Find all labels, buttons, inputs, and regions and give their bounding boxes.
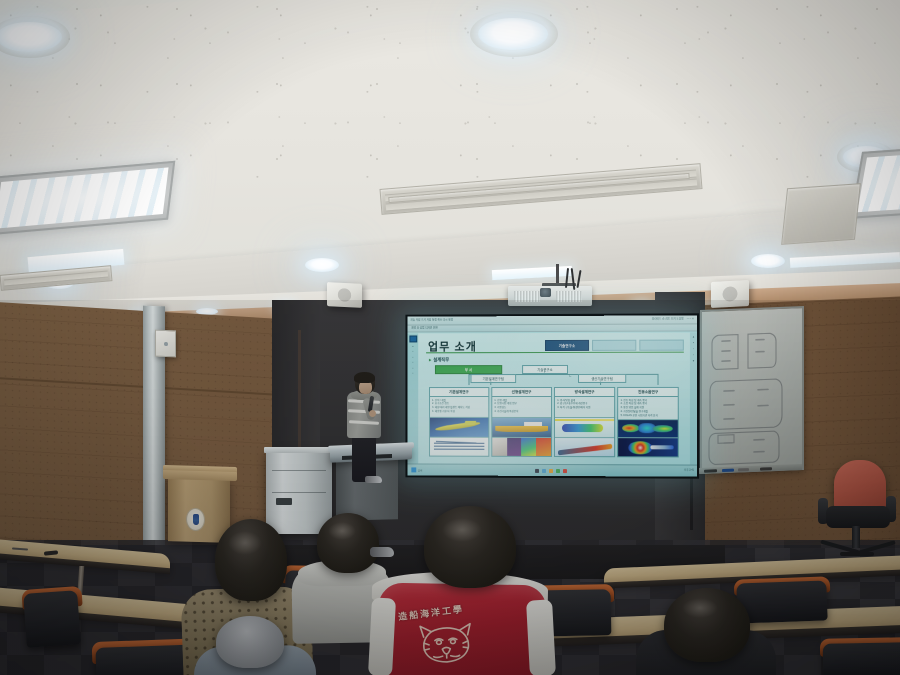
status-right-label: 슬라이드 쇼 검토 보기 도움말	[652, 318, 684, 321]
slide-section-heading: ▸설계직무	[429, 357, 449, 363]
card-structural-design: 방식설계연구 1. 방식/방청 설계 2. 강구조/내구/부재 개선연구 3. …	[554, 387, 615, 457]
org-right-branch-box: 생산기술연구팀	[578, 374, 626, 383]
jacket-sleeve	[526, 599, 556, 675]
slide-thumbnail-selected[interactable]	[409, 335, 417, 342]
wall-speaker	[711, 280, 749, 308]
card-header: 방식설계연구	[555, 388, 614, 397]
card-header: 선형설계연구	[492, 388, 550, 397]
slide-canvas: 업무 소개 기술연구소 ▸설계직무 부 서 기술연구소 기본설계연구	[418, 332, 690, 465]
jacket-sleeve	[368, 597, 396, 675]
av-rack-panel-slot[interactable]	[276, 498, 292, 505]
marker[interactable]	[704, 469, 717, 472]
thumbnail-icon: ▫	[412, 367, 413, 370]
taskbar-clock: 오후 2:41	[684, 470, 694, 473]
card-image-hull-girder-stress	[555, 438, 614, 457]
office-chair-leg	[840, 552, 874, 556]
projection-screen: 자동 저장 끄기 저장 실행 취소 다시 실행 슬라이드 쇼 검토 보기 도움말…	[407, 315, 697, 476]
org-root-box: 부 서	[435, 365, 502, 374]
scrollbar-down-icon[interactable]: ▾	[693, 360, 695, 363]
thumbnail-icon: ▫	[412, 372, 413, 375]
slide-tab-active[interactable]: 기술연구소	[545, 340, 589, 351]
thumbnail-icon: ▫	[412, 350, 413, 353]
wall-control-box[interactable]	[155, 330, 176, 358]
ceiling-access-panel	[781, 183, 861, 245]
card-item-list: 1. 선적 / 개발 2. 요구조건 검토 3. 해상/해저 해양/플랜트 배치…	[430, 397, 488, 418]
recessed-downlight	[305, 258, 339, 272]
card-hullform-design: 선형설계연구 1. 선형 개발 2. 모형시험 계획 업무 3. 저항성능 4.…	[491, 387, 551, 457]
eraser[interactable]	[738, 468, 749, 471]
ribbon-tab-labels[interactable]: 파일 홈 삽입 디자인 전환	[411, 327, 437, 330]
card-item: 4. 추진기설계 특성분석	[494, 410, 548, 414]
audience-chair[interactable]	[23, 590, 81, 648]
pane-icon[interactable]: ▪	[693, 342, 694, 345]
card-header: 진동소음연구	[619, 388, 678, 397]
audience-member-4-head	[216, 616, 284, 668]
av-equipment-cabinet	[266, 450, 332, 534]
hair-highlight	[328, 522, 356, 540]
slide-tab[interactable]	[592, 340, 636, 351]
whiteboard	[700, 306, 804, 474]
card-item: 5. KOLAS 공인 시험기관 자격 유지	[621, 414, 676, 418]
scrollbar-up-icon[interactable]: ▴	[693, 335, 695, 338]
quick-access-label: 자동 저장 끄기 저장 실행 취소 다시 실행	[410, 319, 453, 322]
pane-icon[interactable]: ▫	[693, 348, 694, 351]
office-chair-gas-post	[852, 526, 860, 548]
card-image-fem-deformation-plot	[555, 418, 614, 438]
card-vibration-noise: 진동소음연구 1. 진동 특성 및 계측 평가 2. 소음 특성 및 계측 평가…	[618, 387, 679, 458]
card-header: 기본설계연구	[430, 388, 488, 397]
hair-highlight	[682, 598, 718, 618]
marker[interactable]	[722, 468, 734, 471]
org-chart: 부 서 기술연구소 기본설계연구팀 생산기술연구팀 ㄴ	[429, 365, 679, 385]
title-underline	[426, 352, 684, 354]
ppt-right-pane-rail[interactable]: ▴ ▪ ▫ ▫ ▾	[690, 332, 697, 465]
stray-shoe	[370, 547, 394, 557]
taskbar-left-group[interactable]: 검색	[411, 468, 422, 473]
org-center-box: 기술연구소	[522, 365, 568, 374]
office-chair-seat[interactable]	[826, 506, 890, 528]
ppt-ribbon-tabs[interactable]: 파일 홈 삽입 디자인 전환	[407, 324, 697, 332]
windows-start-icon[interactable]	[411, 468, 415, 472]
window-controls[interactable]: — ▫ ✕	[687, 318, 694, 321]
presenter-hand	[369, 410, 376, 417]
card-image-cfd-wake-montage	[492, 437, 550, 456]
thumbnail-icon: ▫	[412, 361, 413, 364]
section-heading-label: 설계직무	[433, 357, 449, 362]
org-left-branch-box: 기본설계연구팀	[470, 374, 516, 383]
org-connector-label: ㄴ	[569, 374, 572, 378]
card-item-list: 1. 방식/방청 설계 2. 강구조/내구/부재 개선연구 3. 최적 구조설계…	[555, 397, 614, 418]
thumbnail-icon: ▫	[412, 356, 413, 359]
windows-taskbar[interactable]: 검색 오후 2:41	[407, 463, 697, 476]
card-item: 4. 해양생 기본/사 작성	[432, 410, 486, 414]
slide-section-tabs[interactable]: 기술연구소	[545, 340, 684, 351]
folder-icon[interactable]	[542, 468, 546, 472]
card-item: 3. 최적 구조설계/경량/해석 지원	[557, 406, 612, 410]
thumbnail-icon: ▪	[412, 345, 413, 348]
design-discipline-cards: 기본설계연구 1. 선적 / 개발 2. 요구조건 검토 3. 해상/해저 해양…	[429, 387, 679, 458]
browser-icon[interactable]	[549, 468, 553, 472]
projector-vent	[556, 291, 582, 302]
university-crest	[186, 508, 205, 532]
card-image-yellow-vessel-photo	[492, 418, 550, 438]
music-icon[interactable]	[535, 468, 539, 472]
lecture-hall-photo: 자동 저장 끄기 저장 실행 취소 다시 실행 슬라이드 쇼 검토 보기 도움말…	[0, 0, 900, 675]
audience-chair[interactable]	[823, 642, 900, 675]
taskbar-search-label[interactable]: 검색	[418, 468, 422, 472]
downlight-rim	[470, 11, 558, 57]
wall-speaker	[327, 282, 362, 308]
recessed-downlight	[751, 254, 785, 268]
av-cabinet-top	[264, 447, 334, 453]
presenter-shoe	[365, 476, 382, 483]
hair-highlight	[228, 531, 262, 555]
media-icon[interactable]	[563, 469, 567, 473]
presenter-hair	[354, 372, 375, 383]
crest-shield-icon	[193, 514, 199, 525]
card-basic-design: 기본설계연구 1. 선적 / 개발 2. 요구조건 검토 3. 해상/해저 해양…	[429, 387, 489, 457]
bullet-caret-icon: ▸	[429, 357, 431, 362]
card-image-thruster-pressure-field	[619, 439, 678, 457]
audience-chair[interactable]	[736, 580, 827, 623]
mail-icon[interactable]	[556, 469, 560, 473]
projector-lens	[540, 288, 551, 297]
card-item-list: 1. 진동 특성 및 계측 평가 2. 소음 특성 및 계측 평가 3. 방진 …	[619, 397, 678, 420]
marker[interactable]	[760, 467, 772, 470]
card-image-modal-vibration-map	[619, 420, 678, 439]
hair-highlight	[442, 518, 482, 542]
speaker-grille-icon	[331, 285, 358, 304]
card-image-hull-lines-drawing	[430, 437, 488, 456]
ceiling-speckle-texture	[0, 0, 900, 190]
projector-vent	[514, 291, 540, 302]
tiger-head-logo	[418, 622, 474, 664]
slide-tab[interactable]	[639, 340, 684, 351]
card-item-list: 1. 선형 개발 2. 모형시험 계획 업무 3. 저항성능 4. 추진기설계 …	[492, 397, 550, 418]
card-image-submarine-render	[430, 418, 488, 438]
speaker-grille-icon	[715, 283, 745, 305]
presenter	[343, 372, 387, 482]
pane-icon[interactable]: ▫	[693, 354, 694, 357]
control-box-indicator	[164, 341, 168, 345]
